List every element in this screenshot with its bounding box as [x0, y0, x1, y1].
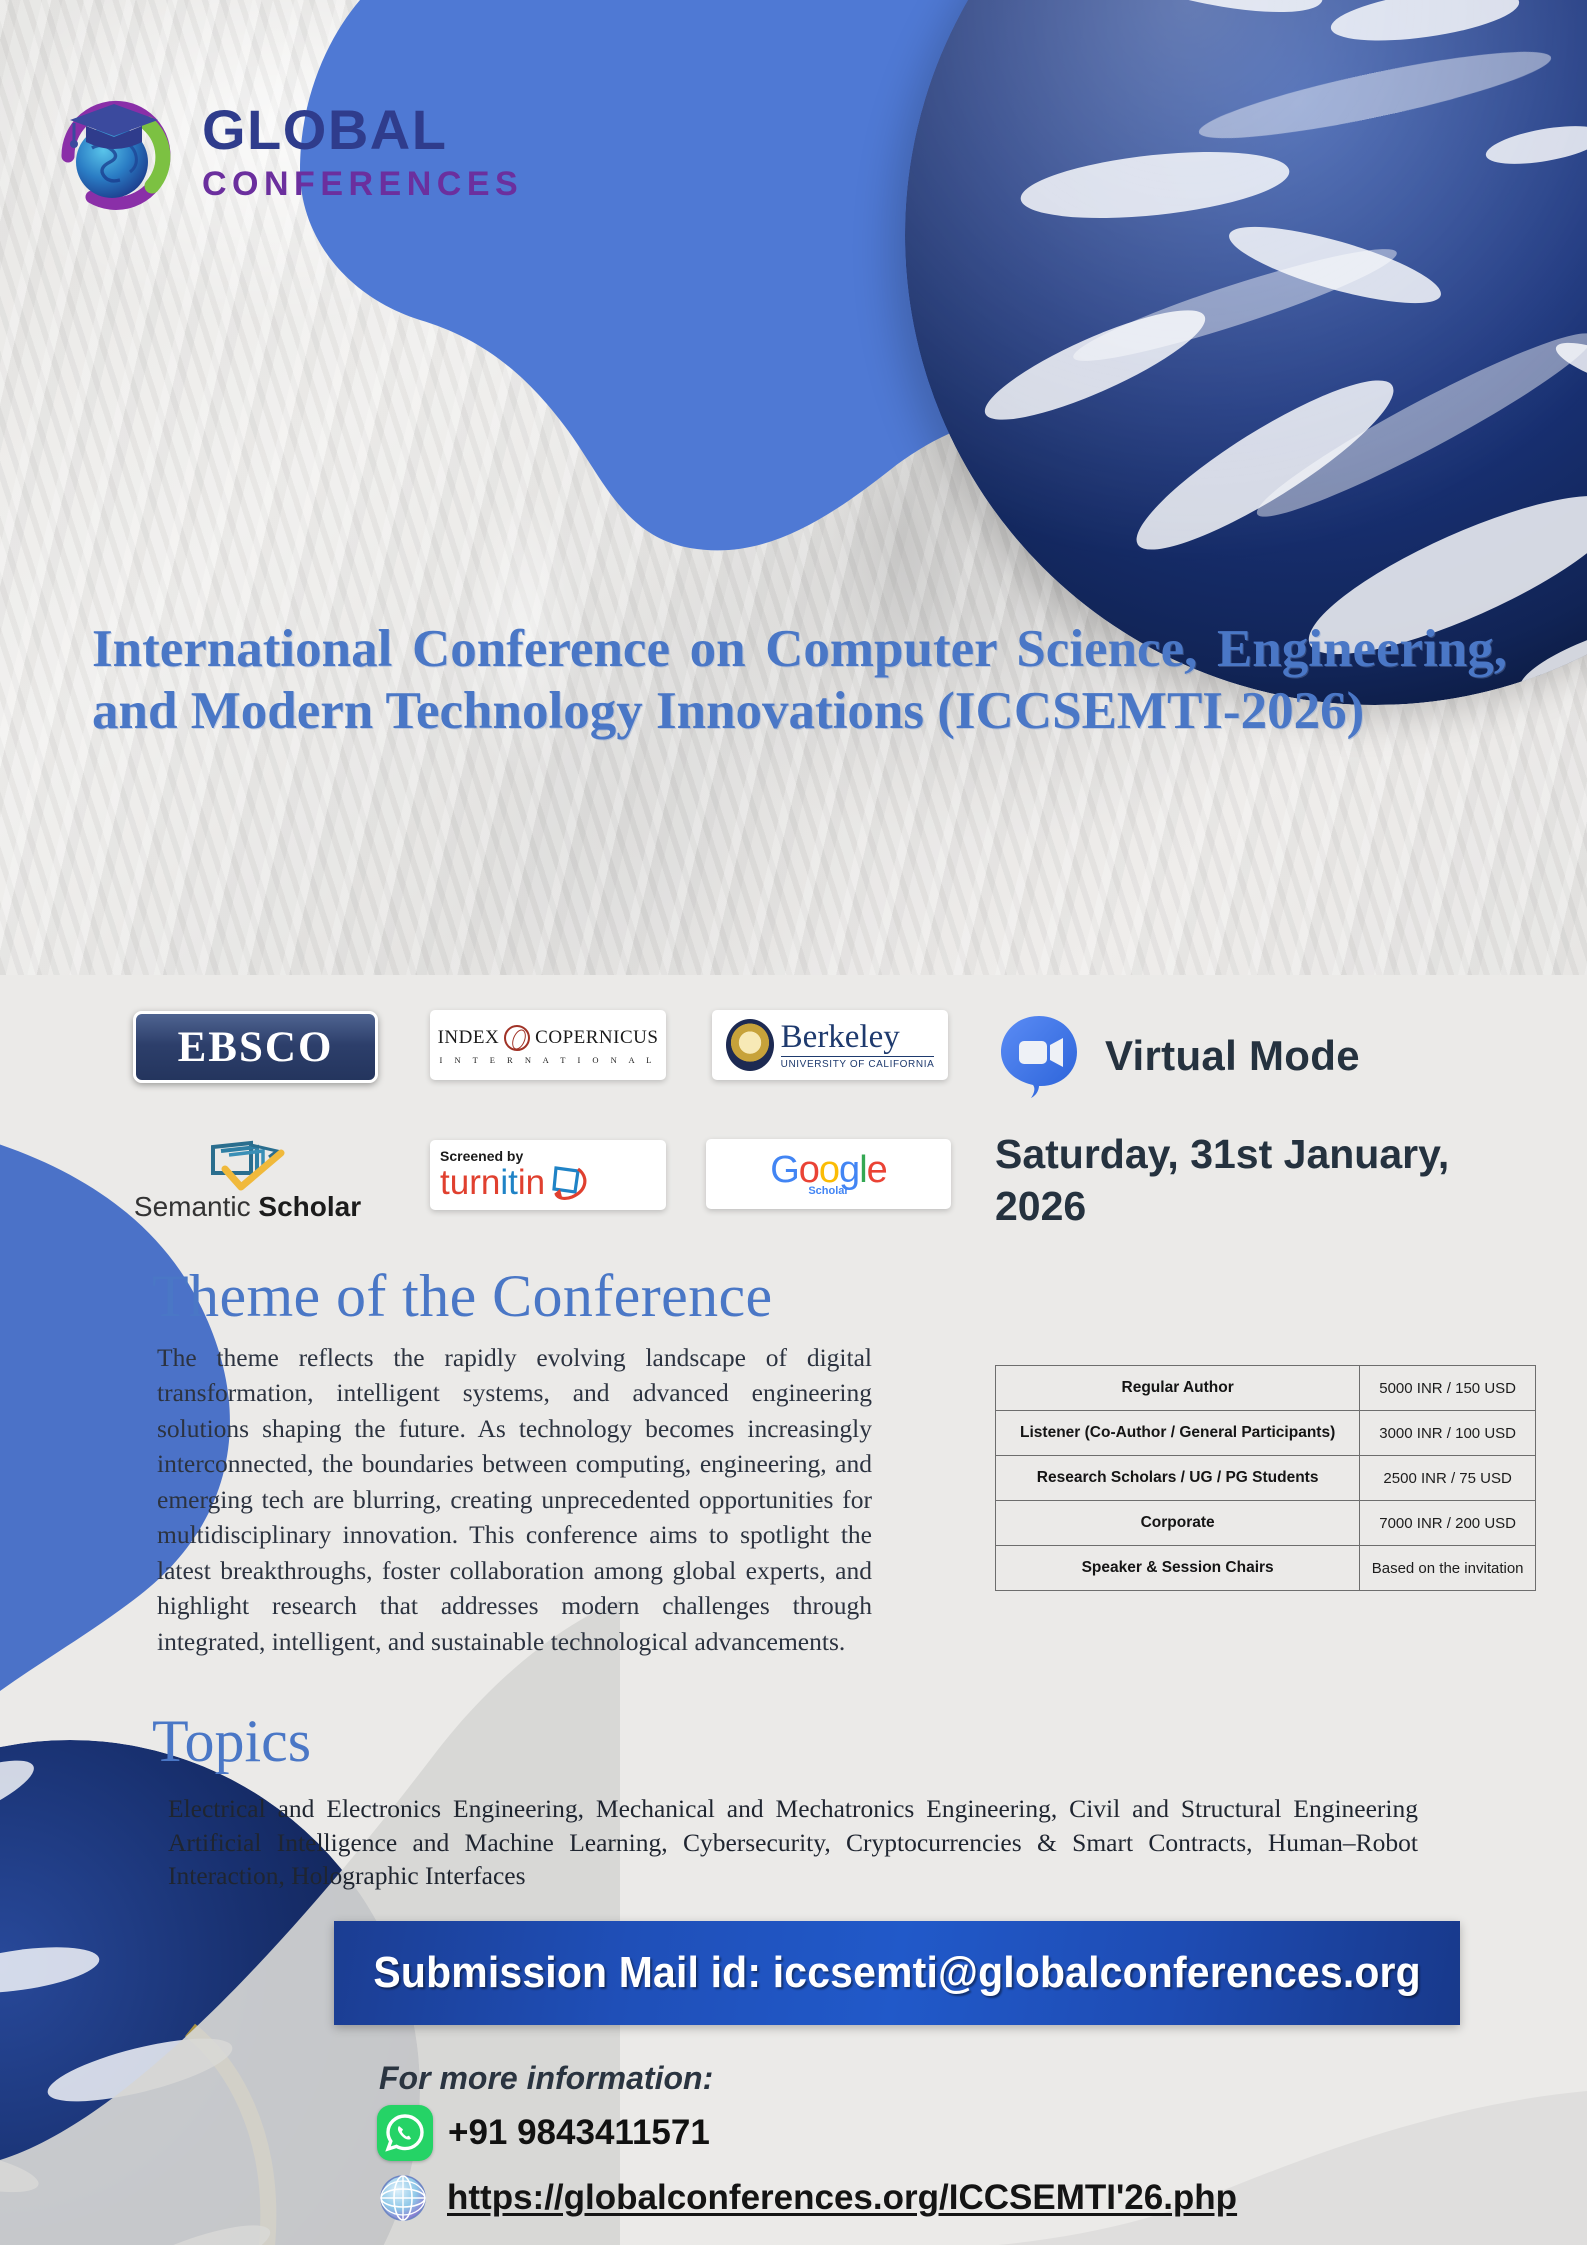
turnitin-word-2: it	[500, 1163, 518, 1202]
turnitin-word-1: turn	[440, 1163, 500, 1202]
brand-logo-text: GLOBAL CONFERENCES	[202, 102, 523, 201]
index-copernicus-sub: I N T E R N A T I O N A L	[440, 1055, 657, 1065]
turnitin-swoosh-icon	[548, 1164, 588, 1202]
fee-amount: 3000 INR / 100 USD	[1360, 1411, 1536, 1456]
virtual-mode-label: Virtual Mode	[1105, 1032, 1360, 1080]
ebsco-logo[interactable]: EBSCO	[133, 1011, 378, 1083]
fee-amount: 2500 INR / 75 USD	[1360, 1456, 1536, 1501]
theme-heading: Theme of the Conference	[152, 1262, 773, 1331]
graduation-globe-logo-icon	[52, 90, 180, 218]
submission-mail-text: Submission Mail id: iccsemti@globalconfe…	[373, 1948, 1420, 1998]
semantic-scholar-light: Semantic	[134, 1191, 251, 1222]
turnitin-logo[interactable]: Screened by turnitin	[430, 1140, 666, 1210]
index-copernicus-line1: INDEX	[438, 1027, 500, 1049]
google-scholar-sub: Scholar	[808, 1185, 848, 1197]
conference-date: Saturday, 31st January, 2026	[995, 1128, 1545, 1233]
table-row: Speaker & Session Chairs Based on the in…	[996, 1546, 1536, 1591]
globe-web-icon	[377, 2172, 429, 2224]
brand-logo-secondary: CONFERENCES	[202, 167, 523, 201]
turnitin-word-3: in	[518, 1163, 545, 1202]
berkeley-sub: UNIVERSITY OF CALIFORNIA	[781, 1056, 935, 1070]
whatsapp-contact-row[interactable]: +91 9843411571	[377, 2105, 710, 2161]
submission-mail-banner[interactable]: Submission Mail id: iccsemti@globalconfe…	[334, 1921, 1460, 2025]
theme-body-text: The theme reflects the rapidly evolving …	[157, 1340, 872, 1659]
google-l: l	[859, 1149, 866, 1191]
fee-category: Research Scholars / UG / PG Students	[996, 1456, 1360, 1501]
table-row: Listener (Co-Author / General Participan…	[996, 1411, 1536, 1456]
hero-banner: GLOBAL CONFERENCES International Confere…	[0, 0, 1587, 975]
video-camera-bubble-icon	[995, 1012, 1083, 1100]
fee-amount: 5000 INR / 150 USD	[1360, 1366, 1536, 1411]
topics-heading: Topics	[152, 1707, 311, 1776]
topics-body-text: Electrical and Electronics Engineering, …	[168, 1792, 1418, 1893]
table-row: Corporate 7000 INR / 200 USD	[996, 1501, 1536, 1546]
index-copernicus-logo[interactable]: INDEX COPERNICUS I N T E R N A T I O N A…	[430, 1010, 666, 1080]
fee-amount: Based on the invitation	[1360, 1546, 1536, 1591]
more-information-label: For more information:	[379, 2060, 713, 2097]
berkeley-seal-icon	[726, 1019, 774, 1071]
whatsapp-icon	[377, 2105, 433, 2161]
virtual-mode-row: Virtual Mode	[995, 1012, 1360, 1100]
copernicus-globe-icon	[504, 1025, 530, 1051]
berkeley-name: Berkeley	[781, 1021, 935, 1054]
semantic-scholar-bold: Scholar	[258, 1191, 361, 1222]
fee-category: Regular Author	[996, 1366, 1360, 1411]
google-e: e	[867, 1149, 887, 1191]
conference-poster: GLOBAL CONFERENCES International Confere…	[0, 0, 1587, 2245]
google-g1: G	[770, 1149, 799, 1191]
fee-category: Corporate	[996, 1501, 1360, 1546]
ebsco-logo-text: EBSCO	[178, 1023, 334, 1072]
website-row[interactable]: https://globalconferences.org/ICCSEMTI'2…	[377, 2172, 1237, 2224]
google-scholar-logo[interactable]: Google Scholar	[706, 1139, 951, 1209]
berkeley-logo[interactable]: Berkeley UNIVERSITY OF CALIFORNIA	[712, 1010, 948, 1080]
fee-amount: 7000 INR / 200 USD	[1360, 1501, 1536, 1546]
whatsapp-phone-number: +91 9843411571	[448, 2113, 710, 2153]
semantic-scholar-logo[interactable]: Semantic Scholar	[125, 1135, 370, 1223]
index-copernicus-line2: COPERNICUS	[535, 1027, 658, 1049]
brand-logo[interactable]: GLOBAL CONFERENCES	[52, 78, 512, 223]
conference-title: International Conference on Computer Sci…	[92, 618, 1507, 742]
fee-category: Speaker & Session Chairs	[996, 1546, 1360, 1591]
brand-logo-primary: GLOBAL	[202, 102, 523, 158]
fee-category: Listener (Co-Author / General Participan…	[996, 1411, 1360, 1456]
registration-fee-table: Regular Author 5000 INR / 150 USD Listen…	[995, 1365, 1536, 1591]
table-row: Regular Author 5000 INR / 150 USD	[996, 1366, 1536, 1411]
website-url[interactable]: https://globalconferences.org/ICCSEMTI'2…	[447, 2178, 1237, 2218]
table-row: Research Scholars / UG / PG Students 250…	[996, 1456, 1536, 1501]
semantic-scholar-book-icon	[207, 1139, 289, 1191]
